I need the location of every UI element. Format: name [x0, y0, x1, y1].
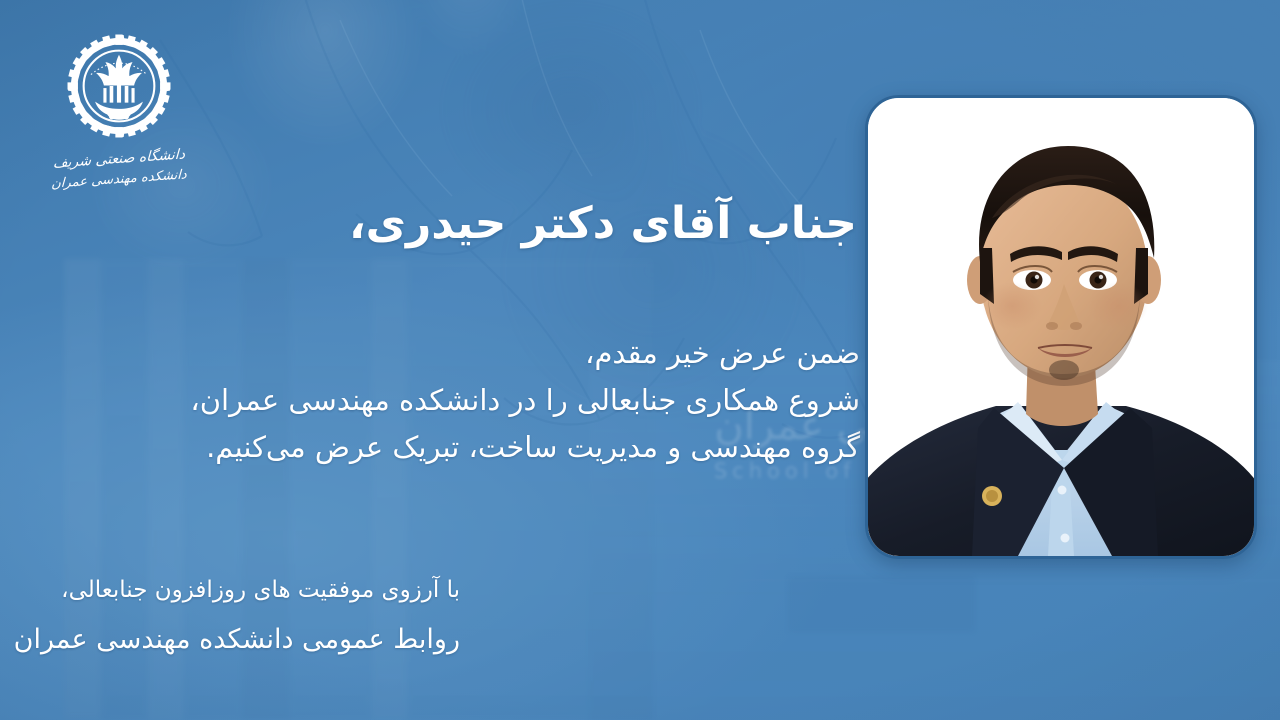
signature-department: روابط عمومی دانشکده مهندسی عمران [0, 617, 460, 663]
message-line-2: شروع همکاری جنابعالی را در دانشکده مهندس… [120, 377, 860, 424]
university-logo-block: دانشگاه صنعتی شریف دانشکده مهندسی عمران [44, 34, 194, 188]
message-line-3: گروه مهندسی و مدیریت ساخت، تبریک عرض می‌… [120, 424, 860, 471]
signature-wish: با آرزوی موفقیت های روزافزون جنابعالی، [0, 572, 460, 609]
signature-block: با آرزوی موفقیت های روزافزون جنابعالی، ر… [0, 572, 460, 663]
message-body: ضمن عرض خیر مقدم، شروع همکاری جنابعالی ر… [120, 330, 860, 471]
announcement-card: دانشکده مهندسی عمران School of Civil Eng… [0, 0, 1280, 720]
message-line-1: ضمن عرض خیر مقدم، [120, 330, 860, 377]
portrait-photo [868, 98, 1254, 556]
logo-caption: دانشگاه صنعتی شریف دانشکده مهندسی عمران [44, 150, 194, 188]
portrait-frame [865, 95, 1257, 559]
salutation-heading: جناب آقای دکتر حیدری، [349, 196, 857, 251]
sharif-university-gear-tulip-emblem-icon [67, 34, 171, 138]
